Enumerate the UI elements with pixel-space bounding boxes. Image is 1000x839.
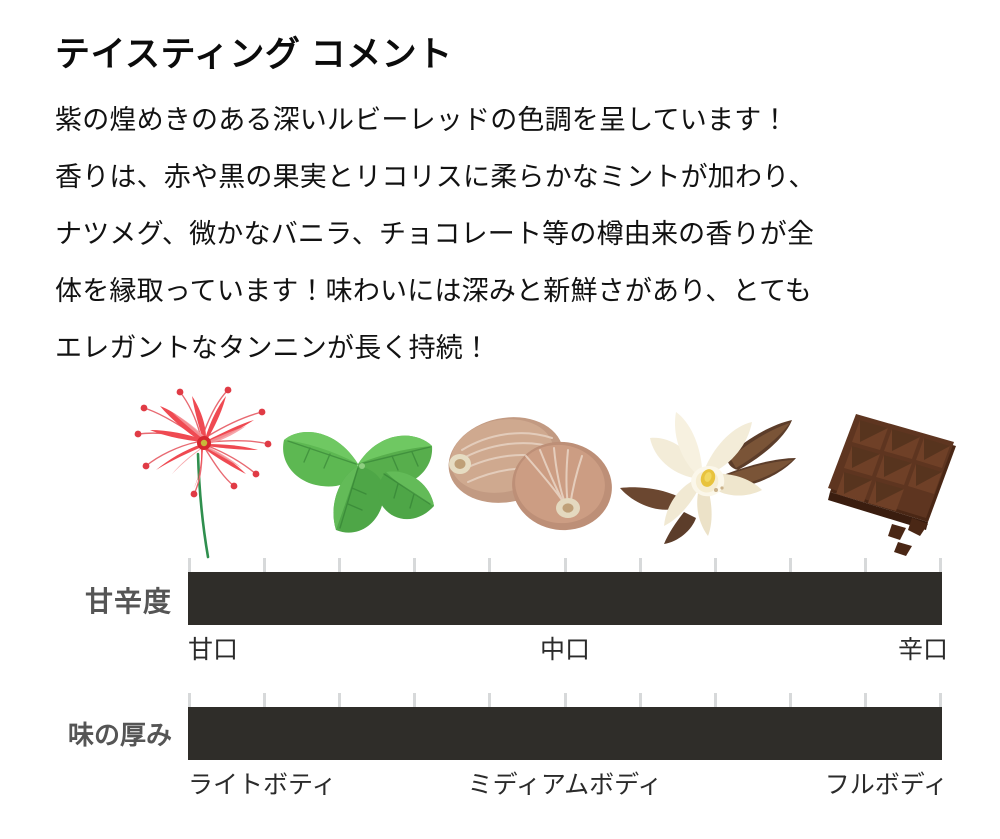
body-scale-label: 味の厚み [0, 715, 172, 752]
sweetness-legend-right: 辛口 [898, 630, 948, 666]
aroma-icon-strip [120, 382, 980, 562]
sweetness-legend-center: 中口 [188, 630, 942, 666]
tasting-description: 紫の煌めきのある深いルビーレッドの色調を呈しています！ 香りは、赤や黒の果実とリ… [55, 92, 975, 377]
description-line: ナツメグ、微かなバニラ、チョコレート等の樽由来の香りが全 [55, 206, 975, 263]
sweetness-scale-legend: 甘口 中口 辛口 [188, 630, 948, 664]
description-line: エレガントなタンニンが長く持続！ [55, 320, 975, 377]
sweetness-scale-bar [188, 572, 942, 625]
description-line: 香りは、赤や黒の果実とリコリスに柔らかなミントが加わり、 [55, 149, 975, 206]
sweetness-scale-label: 甘辛度 [0, 580, 172, 620]
spider-lily-flower-icon [120, 382, 290, 562]
page-title: テイスティング コメント [55, 26, 453, 77]
body-scale-legend: ライトボティ ミディアムボディ フルボディ [188, 765, 948, 799]
description-line: 紫の煌めきのある深いルビーレッドの色調を呈しています！ [55, 92, 975, 149]
body-scale-bar [188, 707, 942, 760]
body-legend-right: フルボディ [825, 765, 948, 801]
description-line: 体を縁取っています！味わいには深みと新鮮さがあり、とても [55, 263, 975, 320]
chocolate-bar-icon [810, 388, 980, 568]
body-scale-track[interactable] [188, 693, 942, 761]
tasting-comment-page: テイスティング コメント 紫の煌めきのある深いルビーレッドの色調を呈しています！… [0, 0, 1000, 839]
vanilla-flower-icon [610, 402, 780, 582]
sweetness-scale-track[interactable] [188, 558, 942, 626]
